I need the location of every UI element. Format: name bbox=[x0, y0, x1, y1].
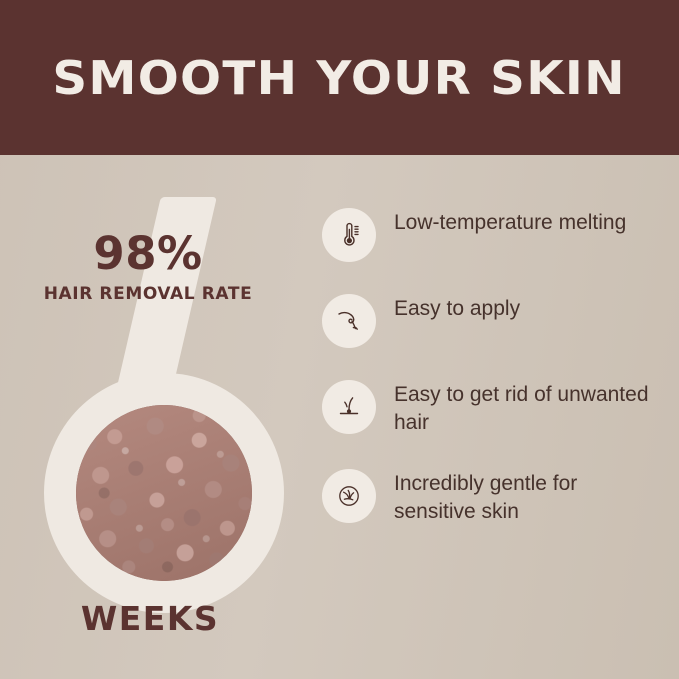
header-banner: SMOOTH YOUR SKIN bbox=[0, 0, 679, 155]
wax-applicator-icon bbox=[322, 294, 376, 348]
feature-item: Incredibly gentle for sensitive skin bbox=[322, 469, 667, 526]
weeks-label: WEEKS bbox=[0, 599, 300, 638]
feature-item: Easy to get rid of unwanted hair bbox=[322, 380, 667, 437]
feature-text: Easy to get rid of unwanted hair bbox=[394, 380, 656, 437]
hair-follicle-icon bbox=[322, 380, 376, 434]
sensitive-skin-icon bbox=[322, 469, 376, 523]
poster: SMOOTH YOUR SKIN 98% HAIR REMOVAL RATE W… bbox=[0, 0, 679, 679]
feature-text: Easy to apply bbox=[394, 294, 520, 323]
thermometer-icon bbox=[322, 208, 376, 262]
feature-list: Low-temperature melting Easy to apply bbox=[322, 208, 667, 558]
wax-beads-texture bbox=[76, 405, 252, 581]
feature-text: Incredibly gentle for sensitive skin bbox=[394, 469, 656, 526]
feature-item: Easy to apply bbox=[322, 294, 667, 348]
stat-panel: 98% HAIR REMOVAL RATE WEEKS bbox=[0, 155, 310, 679]
feature-text: Low-temperature melting bbox=[394, 208, 626, 237]
hair-removal-rate-label: HAIR REMOVAL RATE bbox=[0, 284, 296, 304]
wax-beads-photo bbox=[76, 405, 252, 581]
feature-item: Low-temperature melting bbox=[322, 208, 667, 262]
page-title: SMOOTH YOUR SKIN bbox=[53, 51, 626, 105]
hair-removal-rate-value: 98% bbox=[0, 227, 296, 280]
